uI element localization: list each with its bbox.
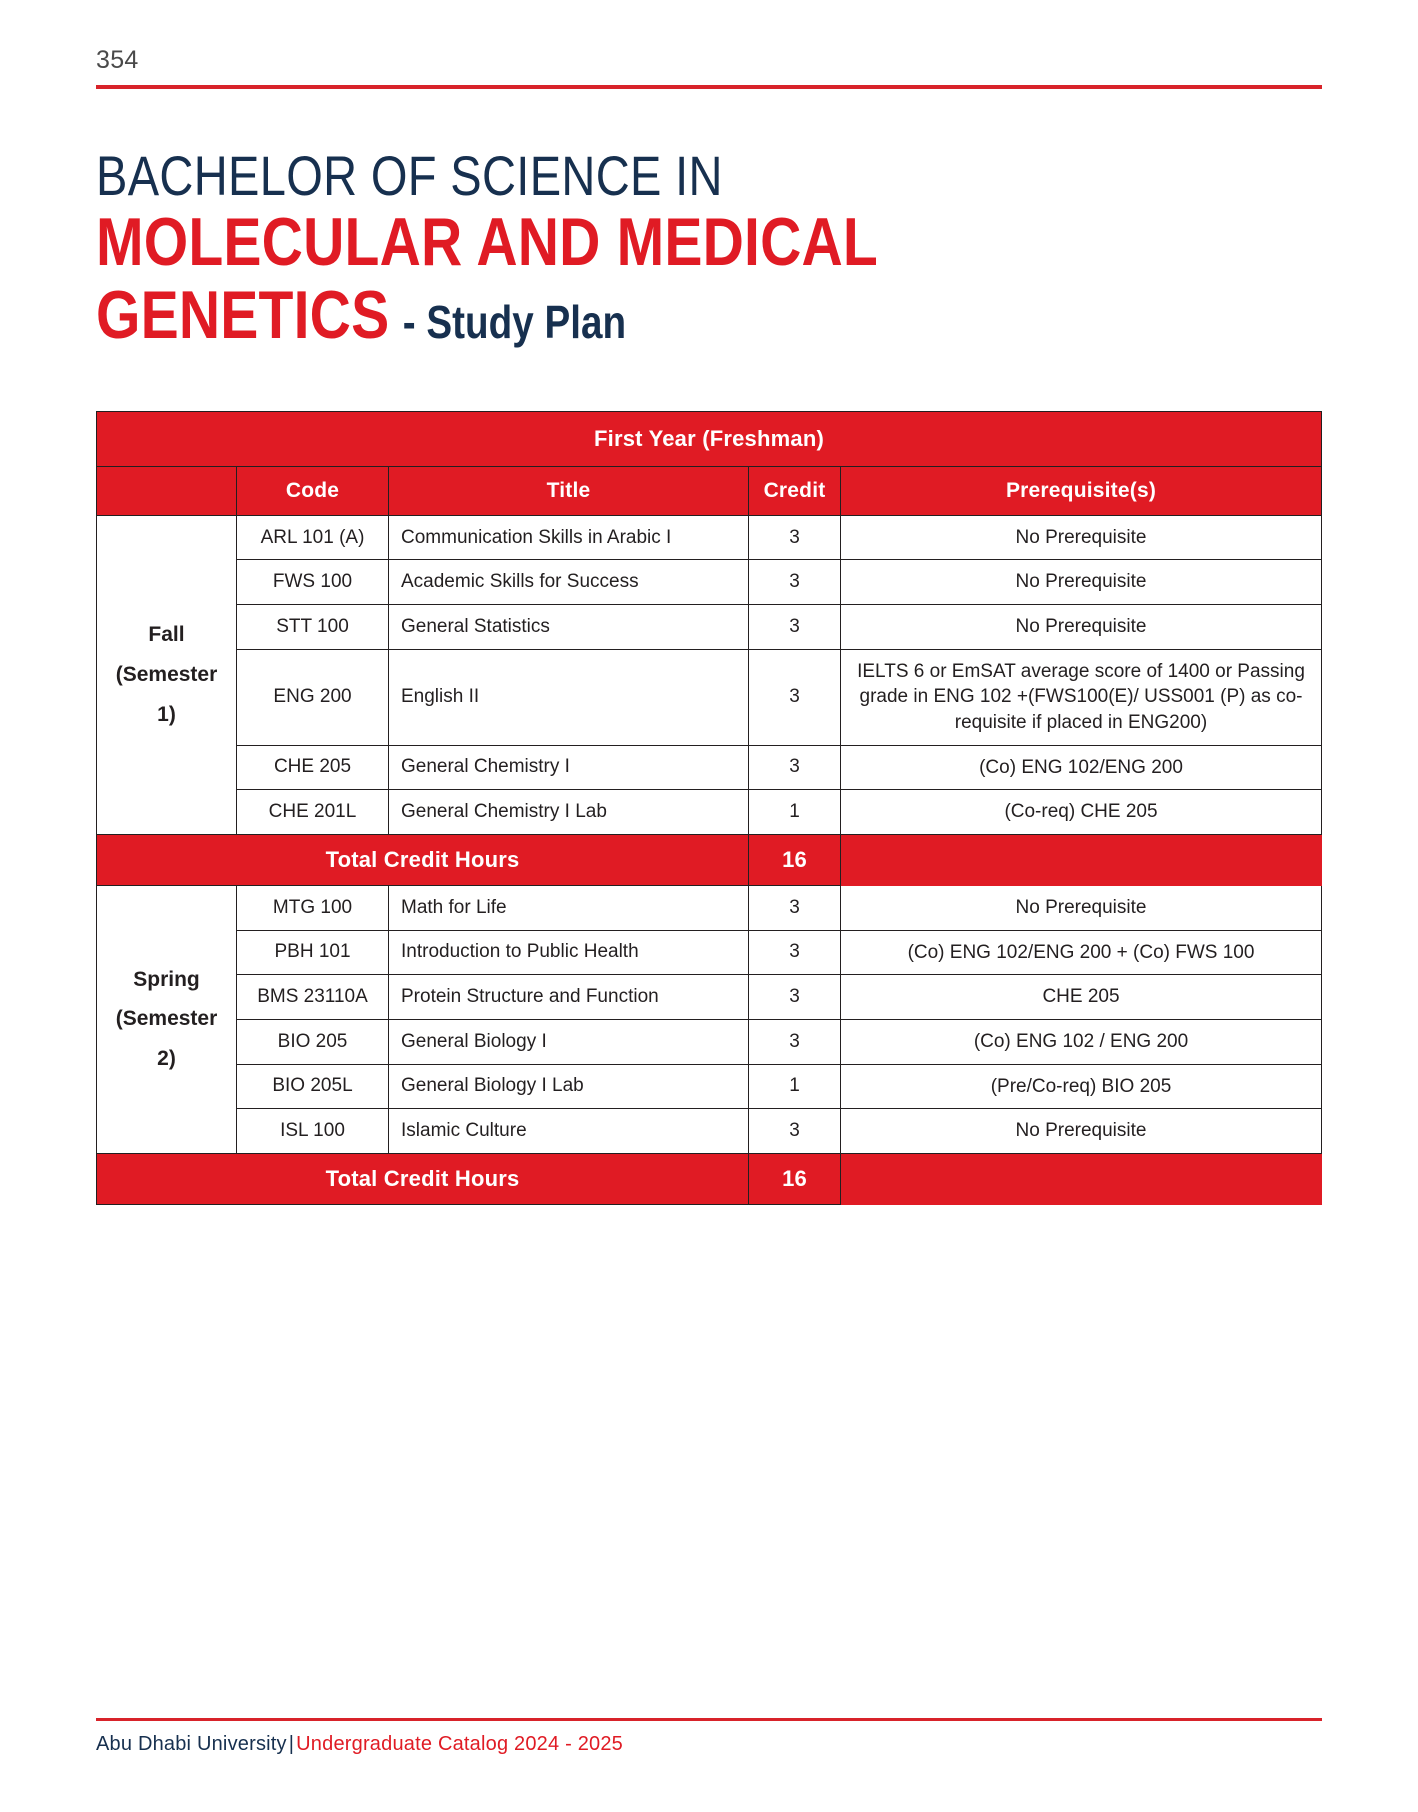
table-row: PBH 101Introduction to Public Health3(Co… <box>97 930 1322 975</box>
course-title: Communication Skills in Arabic I <box>389 515 749 560</box>
table-banner-row: First Year (Freshman) <box>97 411 1322 466</box>
footer-university: Abu Dhabi University <box>96 1733 287 1755</box>
table-row: CHE 205General Chemistry I3(Co) ENG 102/… <box>97 745 1322 790</box>
page-header: 354 <box>96 0 1322 89</box>
course-prerequisite: (Co) ENG 102 / ENG 200 <box>841 1019 1322 1064</box>
course-title: General Biology I Lab <box>389 1064 749 1109</box>
course-code: BMS 23110A <box>237 975 389 1020</box>
course-title: Introduction to Public Health <box>389 930 749 975</box>
course-code: ENG 200 <box>237 649 389 745</box>
total-credit-hours-blank <box>841 1153 1322 1204</box>
course-title: Academic Skills for Success <box>389 560 749 605</box>
page-number: 354 <box>96 48 1322 85</box>
table-body: Fall(Semester 1)ARL 101 (A)Communication… <box>97 515 1322 1204</box>
table-row: Fall(Semester 1)ARL 101 (A)Communication… <box>97 515 1322 560</box>
semester-label-number: (Semester 1) <box>105 655 228 735</box>
course-title: English II <box>389 649 749 745</box>
course-credit: 3 <box>749 975 841 1020</box>
course-code: ARL 101 (A) <box>237 515 389 560</box>
table-row: FWS 100Academic Skills for Success3No Pr… <box>97 560 1322 605</box>
course-credit: 3 <box>749 1109 841 1154</box>
course-title: General Biology I <box>389 1019 749 1064</box>
course-code: CHE 205 <box>237 745 389 790</box>
table-row: BIO 205LGeneral Biology I Lab1(Pre/Co-re… <box>97 1064 1322 1109</box>
course-credit: 1 <box>749 790 841 835</box>
course-prerequisite: (Co-req) CHE 205 <box>841 790 1322 835</box>
course-credit: 1 <box>749 1064 841 1109</box>
course-title: Protein Structure and Function <box>389 975 749 1020</box>
table-row: ISL 100Islamic Culture3No Prerequisite <box>97 1109 1322 1154</box>
total-credit-hours-value: 16 <box>749 1153 841 1204</box>
page-footer: Abu Dhabi University|Undergraduate Catal… <box>96 1718 1322 1756</box>
course-title: Islamic Culture <box>389 1109 749 1154</box>
course-title: Math for Life <box>389 885 749 930</box>
title-study-plan-suffix: - Study Plan <box>389 296 626 348</box>
course-title: General Chemistry I Lab <box>389 790 749 835</box>
total-credit-hours-row: Total Credit Hours16 <box>97 834 1322 885</box>
course-prerequisite: IELTS 6 or EmSAT average score of 1400 o… <box>841 649 1322 745</box>
total-credit-hours-label: Total Credit Hours <box>97 834 749 885</box>
table-row: BMS 23110AProtein Structure and Function… <box>97 975 1322 1020</box>
course-prerequisite: No Prerequisite <box>841 560 1322 605</box>
table-row: ENG 200English II3IELTS 6 or EmSAT avera… <box>97 649 1322 745</box>
semester-label-name: Spring <box>105 960 228 1000</box>
semester-label: Spring(Semester 2) <box>97 885 237 1153</box>
total-credit-hours-blank <box>841 834 1322 885</box>
title-program-line-1: MOLECULAR AND MEDICAL <box>96 208 1126 277</box>
footer-text: Abu Dhabi University|Undergraduate Catal… <box>96 1721 1322 1756</box>
table-row: CHE 201LGeneral Chemistry I Lab1(Co-req)… <box>97 790 1322 835</box>
course-code: CHE 201L <box>237 790 389 835</box>
footer-catalog: Undergraduate Catalog 2024 - 2025 <box>296 1733 623 1755</box>
course-code: PBH 101 <box>237 930 389 975</box>
table-head: First Year (Freshman) Code Title Credit … <box>97 411 1322 515</box>
course-prerequisite: No Prerequisite <box>841 605 1322 650</box>
course-credit: 3 <box>749 560 841 605</box>
footer-separator: | <box>287 1733 296 1755</box>
column-header-credit: Credit <box>749 466 841 515</box>
course-code: BIO 205L <box>237 1064 389 1109</box>
total-credit-hours-label: Total Credit Hours <box>97 1153 749 1204</box>
course-credit: 3 <box>749 745 841 790</box>
table-row: Spring(Semester 2)MTG 100Math for Life3N… <box>97 885 1322 930</box>
course-prerequisite: (Co) ENG 102/ENG 200 + (Co) FWS 100 <box>841 930 1322 975</box>
catalog-page: 354 BACHELOR OF SCIENCE IN MOLECULAR AND… <box>0 0 1418 1812</box>
course-code: ISL 100 <box>237 1109 389 1154</box>
course-prerequisite: No Prerequisite <box>841 515 1322 560</box>
table-column-header-row: Code Title Credit Prerequisite(s) <box>97 466 1322 515</box>
semester-label: Fall(Semester 1) <box>97 515 237 834</box>
table-row: STT 100General Statistics3No Prerequisit… <box>97 605 1322 650</box>
page-title: BACHELOR OF SCIENCE IN MOLECULAR AND MED… <box>96 147 1322 351</box>
table-row: BIO 205General Biology I3(Co) ENG 102 / … <box>97 1019 1322 1064</box>
course-title: General Statistics <box>389 605 749 650</box>
course-prerequisite: (Co) ENG 102/ENG 200 <box>841 745 1322 790</box>
course-prerequisite: No Prerequisite <box>841 1109 1322 1154</box>
course-credit: 3 <box>749 605 841 650</box>
course-prerequisite: (Pre/Co-req) BIO 205 <box>841 1064 1322 1109</box>
table-banner-label: First Year (Freshman) <box>97 411 1322 466</box>
total-credit-hours-value: 16 <box>749 834 841 885</box>
semester-label-name: Fall <box>105 615 228 655</box>
course-code: STT 100 <box>237 605 389 650</box>
column-header-prerequisite: Prerequisite(s) <box>841 466 1322 515</box>
course-credit: 3 <box>749 930 841 975</box>
course-code: FWS 100 <box>237 560 389 605</box>
column-header-title: Title <box>389 466 749 515</box>
header-divider <box>96 85 1322 89</box>
total-credit-hours-row: Total Credit Hours16 <box>97 1153 1322 1204</box>
column-header-code: Code <box>237 466 389 515</box>
course-prerequisite: CHE 205 <box>841 975 1322 1020</box>
column-header-semester <box>97 466 237 515</box>
course-code: BIO 205 <box>237 1019 389 1064</box>
title-program-word: GENETICS <box>96 277 389 353</box>
course-title: General Chemistry I <box>389 745 749 790</box>
title-program-line-2: GENETICS- Study Plan <box>96 281 1126 350</box>
course-prerequisite: No Prerequisite <box>841 885 1322 930</box>
semester-label-number: (Semester 2) <box>105 999 228 1079</box>
course-code: MTG 100 <box>237 885 389 930</box>
course-credit: 3 <box>749 1019 841 1064</box>
course-credit: 3 <box>749 515 841 560</box>
course-credit: 3 <box>749 649 841 745</box>
course-credit: 3 <box>749 885 841 930</box>
title-degree-line: BACHELOR OF SCIENCE IN <box>96 147 1126 204</box>
study-plan-table: First Year (Freshman) Code Title Credit … <box>96 411 1322 1205</box>
